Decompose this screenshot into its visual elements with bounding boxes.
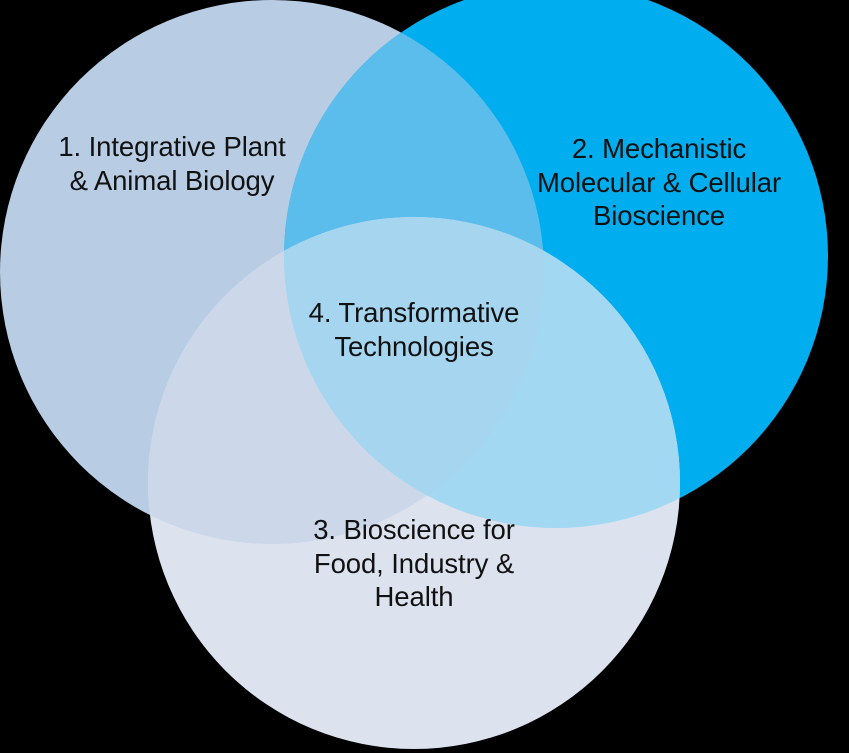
label-set-3: 3. Bioscience for Food, Industry & Healt… <box>254 513 574 614</box>
label-set-4: 4. Transformative Technologies <box>254 296 574 363</box>
label-set-2: 2. Mechanistic Molecular & Cellular Bios… <box>494 132 824 233</box>
venn-diagram: 1. Integrative Plant & Animal Biology 2.… <box>0 0 849 753</box>
label-set-1: 1. Integrative Plant & Animal Biology <box>12 130 332 197</box>
venn-circles-graphic <box>0 0 849 753</box>
